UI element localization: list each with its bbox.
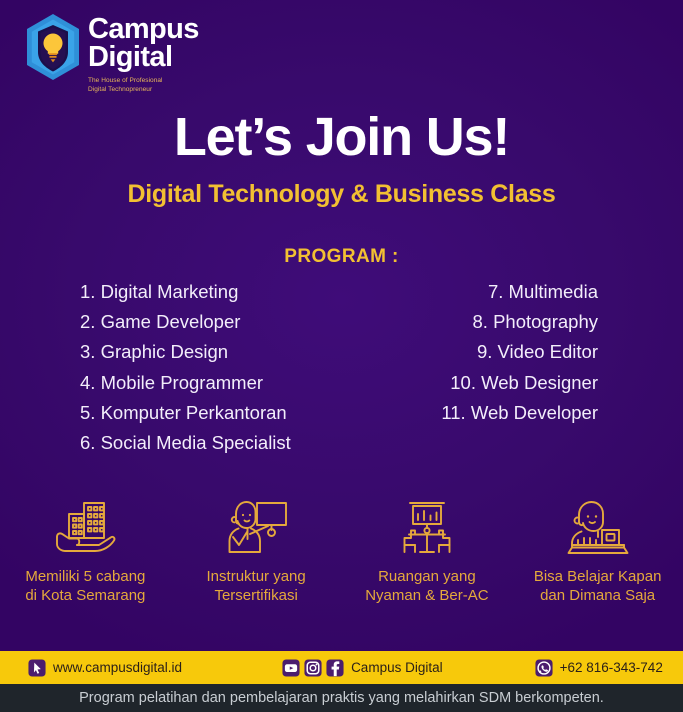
cursor-pointer-icon [28, 659, 46, 677]
list-item-number: 10. [450, 372, 476, 393]
brand-name-line1: Campus [88, 15, 199, 43]
list-item: 7. Multimedia [342, 277, 599, 307]
footer-phone-label: +62 816-343-742 [560, 660, 663, 675]
feature-room: Ruangan yang Nyaman & Ber-AC [342, 497, 513, 605]
list-item-label: Digital Marketing [101, 281, 239, 302]
footer-contact-bar: www.campusdigital.id [0, 651, 683, 684]
list-item: 6. Social Media Specialist [80, 428, 342, 458]
list-item-number: 6. [80, 432, 95, 453]
youtube-icon[interactable] [282, 659, 300, 677]
poster-canvas: Campus Digital The House of Profesional … [0, 0, 683, 712]
list-item-number: 9. [477, 341, 492, 362]
list-item-label: Photography [493, 311, 598, 332]
hexagon-shield-lightbulb-icon [22, 12, 84, 82]
list-item: 5. Komputer Perkantoran [80, 398, 342, 428]
brand-logo[interactable]: Campus Digital The House of Profesional … [22, 12, 199, 94]
page-title: Let’s Join Us! [0, 110, 683, 164]
list-item: 8. Photography [342, 307, 599, 337]
list-item-number: 11. [441, 402, 465, 423]
feature-flexible-learning: Bisa Belajar Kapan dan Dimana Saja [512, 497, 683, 605]
feature-label: Memiliki 5 cabang di Kota Semarang [25, 567, 145, 605]
feature-branches: Memiliki 5 cabang di Kota Semarang [0, 497, 171, 605]
instagram-icon[interactable] [304, 659, 322, 677]
footer-website[interactable]: www.campusdigital.id [28, 659, 182, 677]
instructor-whiteboard-icon [220, 497, 292, 559]
bottom-tagline-text: Program pelatihan dan pembelajaran prakt… [79, 690, 604, 706]
list-item-number: 8. [473, 311, 488, 332]
footer-social: Campus Digital [282, 659, 443, 677]
list-item-number: 3. [80, 341, 95, 362]
footer-whatsapp[interactable]: +62 816-343-742 [535, 659, 663, 677]
footer-social-handle: Campus Digital [351, 660, 443, 675]
list-item-label: Game Developer [101, 311, 241, 332]
list-item-label: Mobile Programmer [101, 372, 263, 393]
hand-holding-buildings-icon [49, 497, 121, 559]
brand-name-line2: Digital [88, 43, 199, 71]
feature-instructor: Instruktur yang Tersertifikasi [171, 497, 342, 605]
program-section-label: PROGRAM : [0, 246, 683, 268]
list-item-number: 1. [80, 281, 95, 302]
list-item-label: Social Media Specialist [101, 432, 291, 453]
list-item: 1. Digital Marketing [80, 277, 342, 307]
page-subtitle: Digital Technology & Business Class [0, 180, 683, 209]
feature-label: Ruangan yang Nyaman & Ber-AC [365, 567, 488, 605]
whatsapp-icon [535, 659, 553, 677]
program-column-left: 1. Digital Marketing 2. Game Developer 3… [0, 277, 342, 458]
list-item: 3. Graphic Design [80, 337, 342, 367]
list-item: 4. Mobile Programmer [80, 368, 342, 398]
list-item-number: 7. [488, 281, 503, 302]
list-item-number: 5. [80, 402, 95, 423]
program-column-right: 7. Multimedia 8. Photography 9. Video Ed… [342, 277, 683, 458]
list-item: 10. Web Designer [342, 368, 599, 398]
feature-label: Instruktur yang Tersertifikasi [207, 567, 306, 605]
list-item-label: Web Designer [481, 372, 598, 393]
list-item-label: Multimedia [509, 281, 598, 302]
list-item-label: Graphic Design [101, 341, 229, 362]
list-item: 9. Video Editor [342, 337, 599, 367]
list-item-label: Video Editor [498, 341, 598, 362]
features-row: Memiliki 5 cabang di Kota Semarang Instr… [0, 497, 683, 605]
list-item: 11. Web Developer [342, 398, 599, 428]
list-item: 2. Game Developer [80, 307, 342, 337]
list-item-number: 2. [80, 311, 95, 332]
bottom-tagline-bar: Program pelatihan dan pembelajaran prakt… [0, 684, 683, 712]
list-item-number: 4. [80, 372, 95, 393]
person-laptop-icon [562, 497, 634, 559]
program-list: 1. Digital Marketing 2. Game Developer 3… [0, 277, 683, 458]
list-item-label: Web Developer [471, 402, 598, 423]
list-item-label: Komputer Perkantoran [101, 402, 287, 423]
brand-tagline: The House of Profesional Digital Technop… [88, 76, 199, 94]
feature-label: Bisa Belajar Kapan dan Dimana Saja [534, 567, 662, 605]
footer-website-label: www.campusdigital.id [53, 660, 182, 675]
meeting-room-table-icon [391, 497, 463, 559]
facebook-icon[interactable] [326, 659, 344, 677]
